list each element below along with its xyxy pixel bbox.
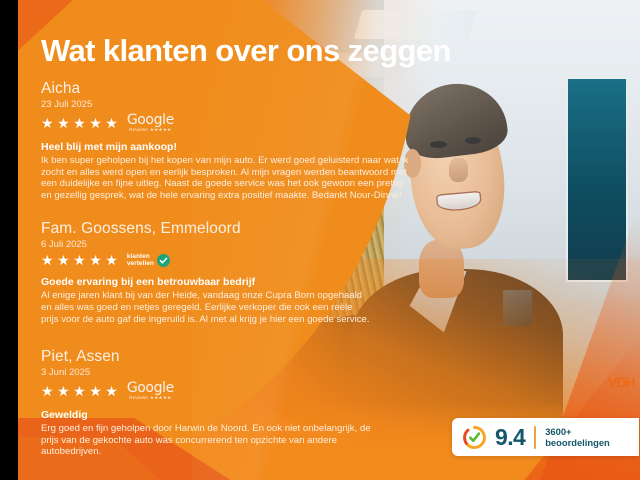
review-date: 23 Juli 2025 [41, 99, 409, 110]
google-reviews-label: Reviews [129, 396, 148, 401]
review-card: Piet, Assen 3 Juni 2025 ★ ★ ★ ★ ★ Google… [41, 348, 373, 458]
review-author: Aicha [41, 80, 409, 98]
divider [534, 426, 536, 449]
star-icon: ★ [57, 253, 70, 267]
google-reviews-subtitle: Reviews ★★★★★ [129, 396, 171, 401]
star-icon: ★ [73, 253, 86, 267]
review-author: Piet, Assen [41, 348, 373, 366]
klantenvertellen-badge: klantenvertellen [127, 253, 170, 268]
rating-count: 3600+ [545, 426, 610, 437]
rating-score: 9.4 [495, 424, 525, 451]
mini-star-icons: ★★★★★ [150, 128, 172, 133]
star-icon: ★ [89, 253, 102, 267]
promo-banner: VDH Wat klanten over ons zeggen Aicha 23… [0, 0, 640, 480]
rating-count-block: 3600+ beoordelingen [545, 426, 610, 448]
review-rating-row: ★ ★ ★ ★ ★ Google Reviews ★★★★★ [41, 381, 373, 401]
kiyoh-check-icon [463, 426, 486, 449]
review-card: Aicha 23 Juli 2025 ★ ★ ★ ★ ★ Google Revi… [41, 80, 409, 201]
google-logo-text: Google [127, 113, 174, 127]
star-icon: ★ [57, 384, 70, 398]
google-reviews-label: Reviews [129, 128, 148, 133]
klantenvertellen-label: klantenvertellen [127, 253, 154, 268]
google-logo-text: Google [127, 381, 174, 395]
star-icon: ★ [105, 253, 118, 267]
star-icon: ★ [105, 384, 118, 398]
star-icon: ★ [105, 116, 118, 130]
google-reviews-badge: Google Reviews ★★★★★ [127, 113, 174, 133]
review-title: Goede ervaring bij een betrouwbaar bedri… [41, 276, 371, 288]
star-rating: ★ ★ ★ ★ ★ [41, 253, 118, 267]
review-card: Fam. Goossens, Emmeloord 6 Juli 2025 ★ ★… [41, 220, 371, 325]
check-circle-icon [157, 254, 170, 267]
star-icon: ★ [41, 253, 54, 267]
review-body: Erg goed en fijn geholpen door Harwin de… [41, 423, 373, 458]
star-icon: ★ [41, 116, 54, 130]
star-icon: ★ [89, 116, 102, 130]
review-title: Heel blij met mijn aankoop! [41, 141, 409, 153]
page-title: Wat klanten over ons zeggen [41, 33, 451, 69]
google-reviews-subtitle: Reviews ★★★★★ [129, 128, 171, 133]
star-rating: ★ ★ ★ ★ ★ [41, 384, 118, 398]
review-body: Ik ben super geholpen bij het kopen van … [41, 155, 409, 201]
mini-star-icons: ★★★★★ [150, 396, 172, 401]
star-icon: ★ [89, 384, 102, 398]
star-rating: ★ ★ ★ ★ ★ [41, 116, 118, 130]
rating-count-label: beoordelingen [545, 437, 610, 448]
star-icon: ★ [73, 116, 86, 130]
star-icon: ★ [73, 384, 86, 398]
banner-content: Wat klanten over ons zeggen Aicha 23 Jul… [0, 0, 640, 480]
review-rating-row: ★ ★ ★ ★ ★ klantenvertellen [41, 253, 371, 268]
letterbox-bar-left [0, 0, 18, 480]
review-date: 6 Juli 2025 [41, 239, 371, 250]
google-reviews-badge: Google Reviews ★★★★★ [127, 381, 174, 401]
review-title: Geweldig [41, 409, 373, 421]
review-body: Al enige jaren klant bij van der Heide, … [41, 290, 371, 325]
star-icon: ★ [57, 116, 70, 130]
review-rating-row: ★ ★ ★ ★ ★ Google Reviews ★★★★★ [41, 113, 409, 133]
rating-badge: 9.4 3600+ beoordelingen [452, 418, 639, 456]
review-author: Fam. Goossens, Emmeloord [41, 220, 371, 238]
review-date: 3 Juni 2025 [41, 367, 373, 378]
star-icon: ★ [41, 384, 54, 398]
